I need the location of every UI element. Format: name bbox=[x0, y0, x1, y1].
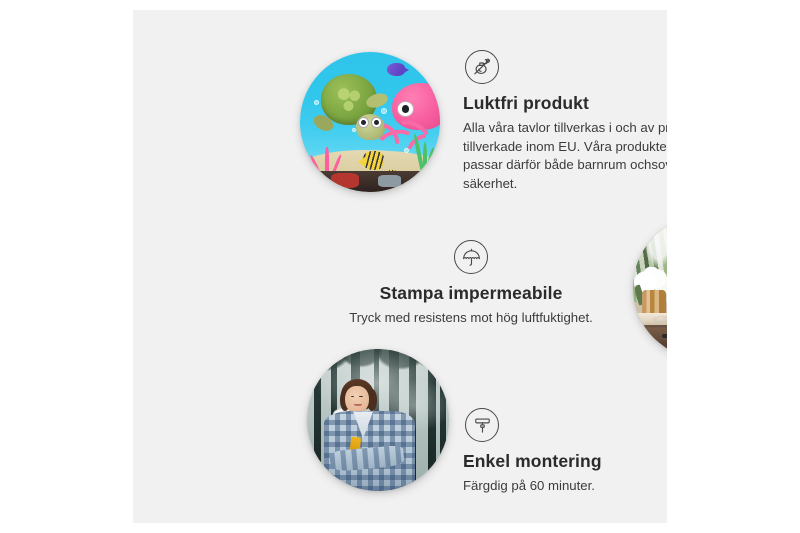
feature-description: Alla våra tavlor tillverkas i och av pro… bbox=[463, 119, 667, 194]
painter-woman-photo-inner bbox=[307, 349, 449, 491]
turtle-eye bbox=[358, 117, 369, 129]
bathroom-wallpaper-photo-inner bbox=[633, 216, 667, 359]
feature-description: Färgdig på 60 minuter. bbox=[463, 477, 667, 496]
ocean-foreground-strip bbox=[300, 171, 440, 192]
woman-smile bbox=[354, 404, 362, 407]
paint-roller-icon bbox=[465, 408, 499, 442]
feature-description: Tryck med resistens mot hög luftfuktighe… bbox=[321, 309, 621, 328]
yellow-fish-icon bbox=[362, 151, 384, 169]
wooden-vanity bbox=[642, 325, 667, 359]
octopus-eye bbox=[397, 101, 414, 117]
feature-odour-free: Luktfri produkt Alla våra tavlor tillver… bbox=[463, 50, 667, 194]
underwater-cartoon-photo[interactable] bbox=[300, 52, 440, 192]
underwater-cartoon-photo-inner bbox=[300, 52, 440, 192]
seaweed bbox=[416, 133, 433, 175]
feature-title: Luktfri produkt bbox=[463, 93, 667, 114]
feature-waterproof-print: Stampa impermeabile Tryck med resistens … bbox=[321, 240, 621, 328]
woman-eye bbox=[351, 396, 354, 398]
bubble-icon bbox=[352, 128, 356, 132]
drawer-handle bbox=[662, 334, 667, 338]
bathroom-wallpaper-photo[interactable] bbox=[633, 216, 667, 359]
bubble-icon bbox=[404, 148, 409, 153]
feature-title: Stampa impermeabile bbox=[321, 283, 621, 304]
product-feature-screen: Luktfri produkt Alla våra tavlor tillver… bbox=[0, 0, 800, 533]
purple-fish-icon bbox=[387, 63, 405, 76]
feature-easy-mounting: Enkel montering Färgdig på 60 minuter. bbox=[463, 408, 667, 496]
feature-panel: Luktfri produkt Alla våra tavlor tillver… bbox=[133, 10, 667, 523]
feature-title: Enkel montering bbox=[463, 451, 667, 472]
umbrella-icon bbox=[454, 240, 488, 274]
woman-eye bbox=[359, 396, 362, 398]
bubble-icon bbox=[314, 100, 319, 105]
no-fragrance-bottle-icon bbox=[465, 50, 499, 84]
painter-woman-photo[interactable] bbox=[307, 349, 449, 491]
